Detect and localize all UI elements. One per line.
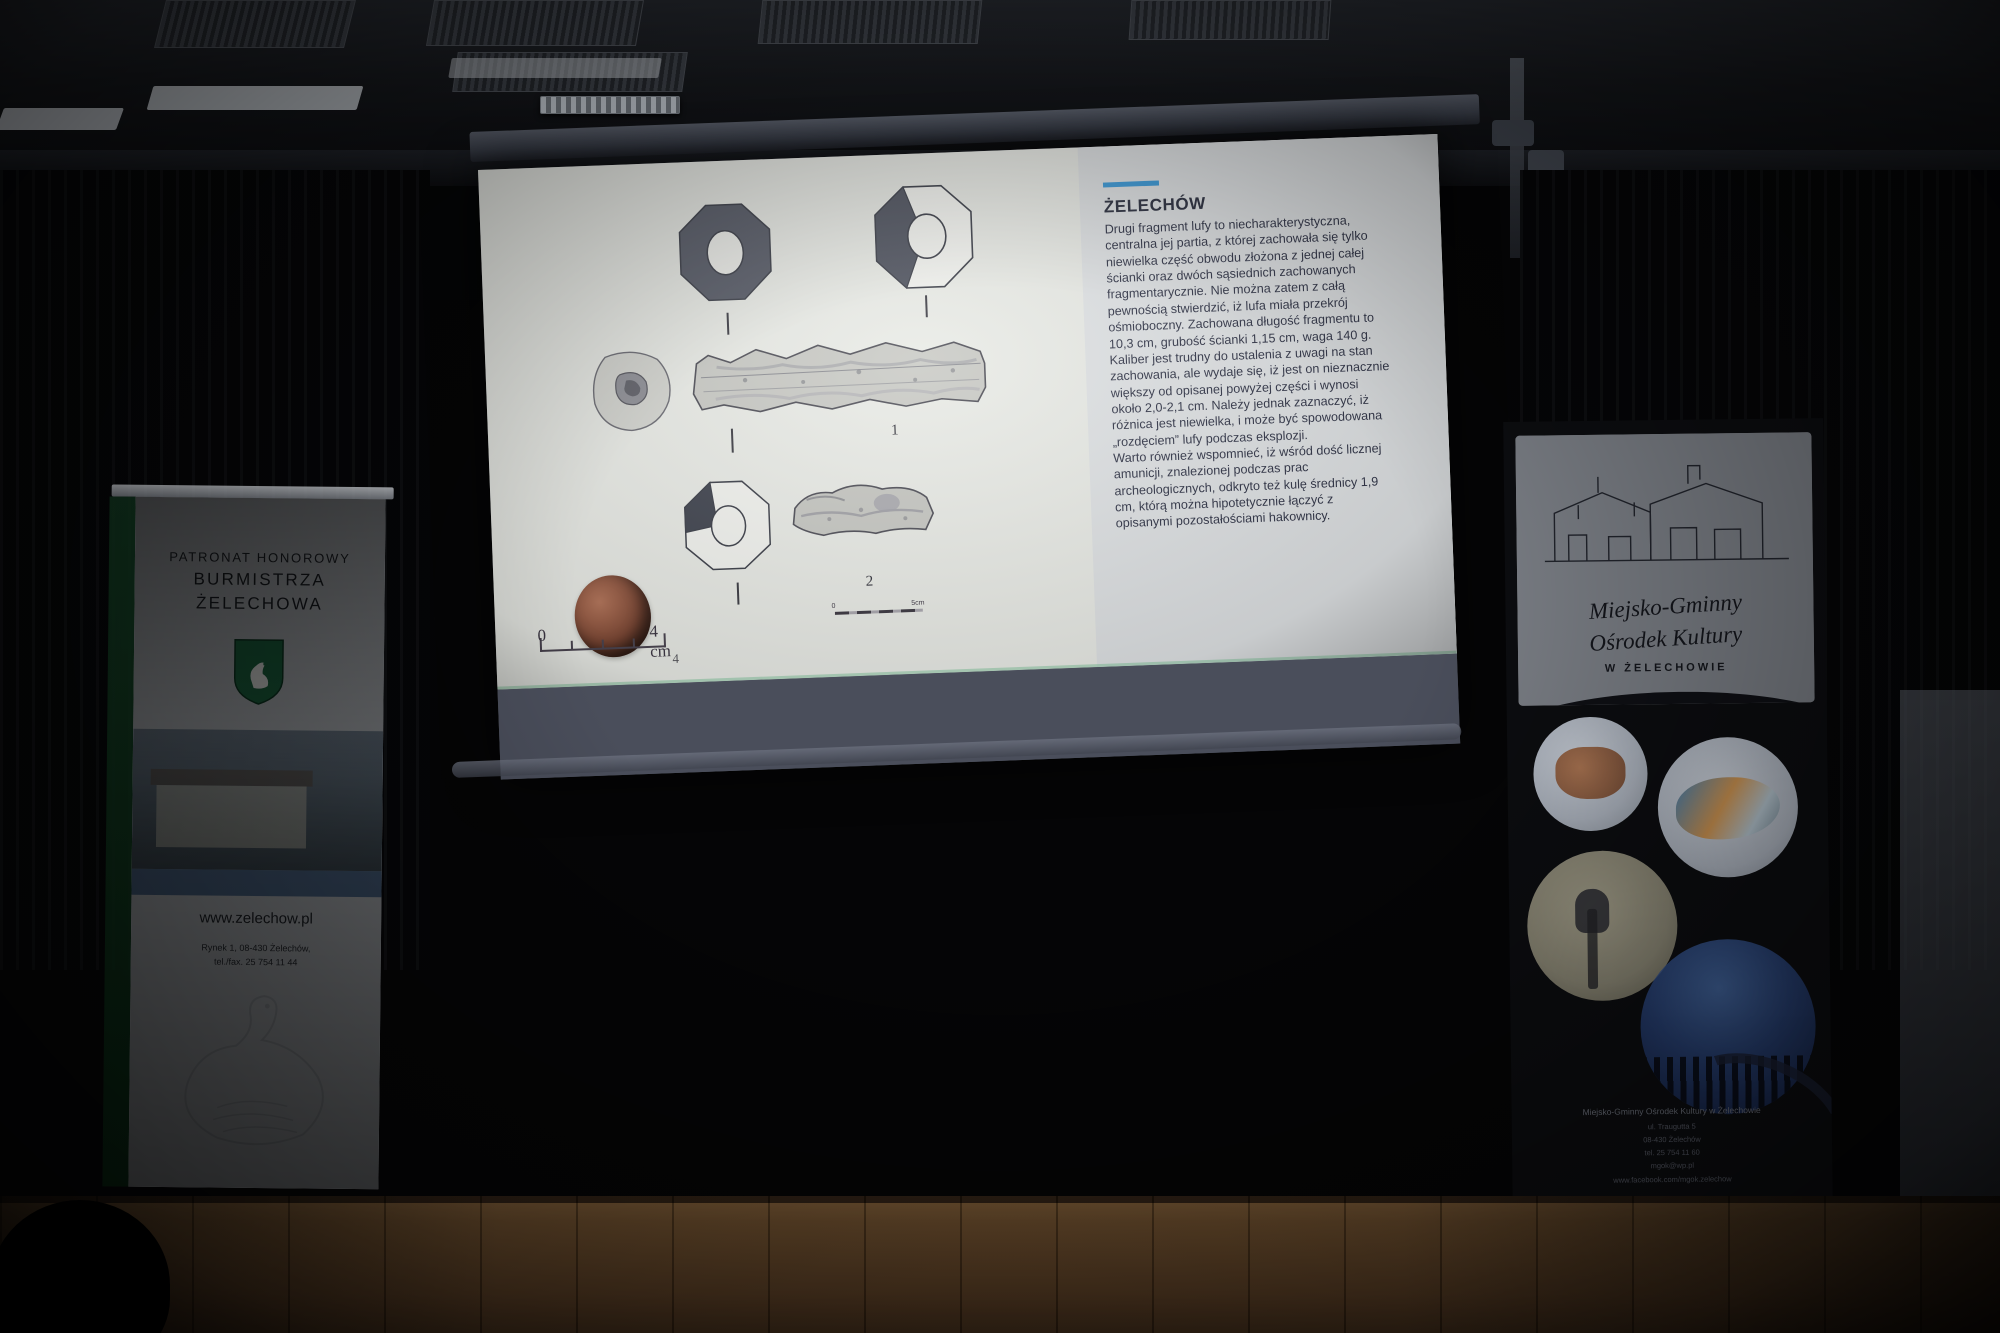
main-scale-bar: 0 4 cm <box>540 631 667 658</box>
town-hall-photograph <box>132 729 383 872</box>
banner-left-body: PATRONAT HONOROWY BURMISTRZA ŻELECHOWA w… <box>128 497 385 1190</box>
octagonal-cross-section-partial-icon-2 <box>680 477 775 574</box>
mini-scale-bar-line <box>835 609 923 615</box>
wooden-stage-floor <box>0 1196 2000 1333</box>
gun-barrel-fragment-2-drawing <box>786 467 939 562</box>
ceiling-air-vent <box>426 0 644 46</box>
banner-right-body: Miejsko-Gminny Ośrodek Kultury W ŻELECHO… <box>1503 418 1833 1212</box>
far-right-light-panel <box>1900 690 2000 1210</box>
theatre-masks-image <box>1555 747 1626 800</box>
slide-text-panel: ŻELECHÓW Drugi fragment lufy to niechara… <box>1078 134 1457 667</box>
paint-palette-image <box>1676 777 1781 840</box>
banner-left-line3: ŻELECHOWA <box>134 593 384 616</box>
projection-screen: 1 <box>470 82 1500 892</box>
banner-right-logo-panel: Miejsko-Gminny Ośrodek Kultury W ŻELECHO… <box>1515 432 1814 706</box>
slide-figure-area: 1 <box>478 147 1097 689</box>
microphone-stand <box>1587 909 1598 989</box>
slide-panel-body: Drugi fragment lufy to niecharakterystyc… <box>1104 210 1429 532</box>
barrel-end-fragment-drawing <box>585 343 681 443</box>
banner-right-shadow-overlay <box>1515 432 1814 706</box>
auditorium-scene: 1 <box>0 0 2000 1333</box>
presentation-slide: 1 <box>478 134 1457 690</box>
stage-shadow-overlay <box>0 1196 2000 1333</box>
paint-palette-photo <box>1657 736 1799 878</box>
figure-tick-mark <box>727 313 730 335</box>
screen-surface: 1 <box>478 134 1460 780</box>
ceiling-air-vent <box>758 0 983 44</box>
figure-number-2: 2 <box>865 573 873 590</box>
figure-number-1: 1 <box>891 422 899 439</box>
banner-right-footer: ul. Traugutta 5 08-430 Żelechów tel. 25 … <box>1512 1118 1833 1188</box>
octagonal-cross-section-partial-icon <box>869 181 979 293</box>
banner-left-address: Rynek 1, 08-430 Żelechów, tel./fax. 25 7… <box>131 941 381 971</box>
mini-scale-bar: 0 5cm <box>835 604 923 619</box>
theatre-masks-photo <box>1533 716 1648 831</box>
scale-bar-label-max: 4 cm <box>649 621 671 662</box>
mini-scale-bar-zero: 0 <box>831 603 835 610</box>
banner-patronat-honorowy: PATRONAT HONOROWY BURMISTRZA ŻELECHOWA w… <box>118 497 395 1190</box>
recessed-ceiling-light <box>147 86 364 110</box>
scale-bar-tick <box>571 641 573 650</box>
building-roof <box>151 769 313 787</box>
ceiling-air-vent <box>154 0 356 48</box>
swan-coat-of-arms-icon <box>231 638 286 707</box>
figure-tick-mark <box>737 583 740 605</box>
banner-left-line2: BURMISTRZA <box>135 569 385 592</box>
mini-scale-bar-max: 5cm <box>911 600 924 607</box>
banner-left-blue-band <box>131 869 381 898</box>
gun-barrel-fragment-1-drawing <box>689 323 993 435</box>
octagonal-cross-section-solid-icon <box>675 201 775 305</box>
banner-left-website: www.zelechow.pl <box>131 909 381 929</box>
banner-mgok-zelechow: Miejsko-Gminny Ośrodek Kultury W ŻELECHO… <box>1503 418 1833 1212</box>
recessed-ceiling-light <box>448 58 662 78</box>
building-facade <box>156 785 307 849</box>
recessed-ceiling-light <box>0 108 124 130</box>
figure-number-4: 4 <box>672 651 679 667</box>
swan-outline-watermark-icon <box>157 987 359 1159</box>
accent-rule <box>1103 180 1159 187</box>
scale-bar-tick <box>633 638 635 647</box>
scale-bar-label-zero: 0 <box>537 626 546 646</box>
scale-bar-tick <box>602 640 604 649</box>
banner-left-line1: PATRONAT HONOROWY <box>135 549 385 567</box>
figure-tick-mark <box>925 295 928 317</box>
ceiling-air-vent <box>1129 0 1332 40</box>
